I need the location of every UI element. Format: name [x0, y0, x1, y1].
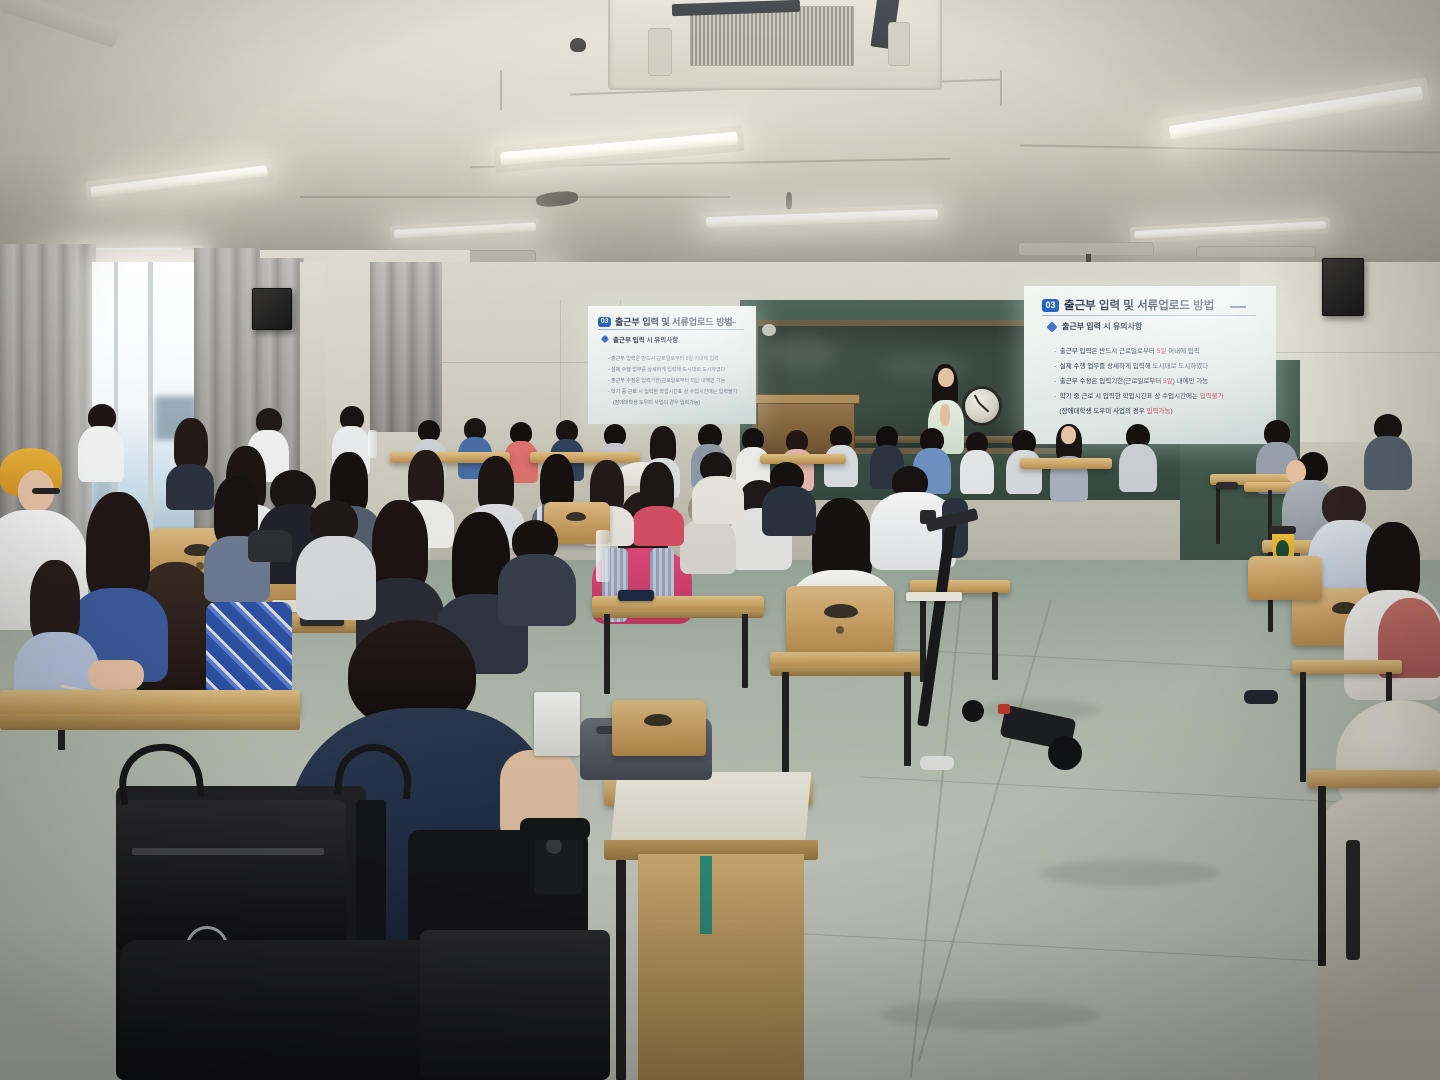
- desk-writing-surface: [611, 772, 811, 846]
- slide-badge: 03: [1042, 299, 1059, 312]
- scooter-accent: [998, 704, 1010, 714]
- slide-subtitle: 출근부 입력 시 유의사항: [1062, 321, 1142, 332]
- slide-sub-marker: [601, 335, 609, 343]
- desk-leg: [604, 614, 610, 694]
- chair-back: [1248, 556, 1322, 600]
- desk-leg: [1318, 786, 1326, 966]
- glasses: [32, 488, 60, 494]
- slide-bullet: - 출근부 입력은 반드시 근로일로부터 5일 이내에 입력: [1054, 344, 1224, 359]
- wall-speaker-left: [252, 288, 292, 330]
- hand: [88, 660, 144, 690]
- torso: [824, 445, 858, 487]
- slide-bullet: - 학기 중 근로 시 입력한 학업시간표 상 수업시간에는 입력불가: [1054, 389, 1224, 404]
- wheelchair-side-panel: [120, 940, 460, 1080]
- torso: [498, 554, 576, 626]
- shoe: [1244, 690, 1278, 704]
- bag-zipper: [132, 848, 324, 855]
- scooter-wheel: [962, 700, 984, 722]
- desk-leg: [1300, 672, 1306, 782]
- lecture-hall-photo: 03 출근부 입력 및 서류업로드 방법 출근부 입력 시 유의사항 - 출근부…: [0, 0, 1440, 1080]
- torso: [692, 476, 744, 524]
- slide-bullet: - 실제 수행 업무를 상세하게 입력해 도시대로 도시하였다: [608, 365, 737, 376]
- phone: [1216, 482, 1238, 489]
- slide-title-rule: [598, 329, 744, 330]
- slide-bullets: - 출근부 입력은 반드시 근로일로부터 5일 이내에 입력 - 실제 수행 업…: [608, 354, 737, 409]
- curtain-back: [370, 262, 442, 432]
- slide-badge: 03: [598, 317, 611, 327]
- slide-bullet: (장애대학생 도우미 사업의 경우 입력가능): [1054, 404, 1224, 419]
- chair-knot: [836, 626, 844, 634]
- chair-back: [786, 586, 894, 662]
- slide-subtitle: 출근부 입력 시 유의사항: [613, 334, 678, 344]
- shoe: [920, 756, 954, 770]
- torso: [680, 518, 736, 574]
- water-bottle: [368, 430, 377, 458]
- chair-cutout: [644, 714, 672, 726]
- slide-title: 출근부 입력 및 서류업로드 방법: [1064, 297, 1214, 313]
- notebook: [906, 592, 962, 601]
- desk-leg: [782, 672, 789, 772]
- tumbler-lid: [1270, 526, 1296, 534]
- slide-bullets: - 출근부 입력은 반드시 근로일로부터 5일 이내에 입력 - 실제 수행 업…: [1054, 344, 1224, 419]
- desk: [760, 454, 846, 464]
- slide-main: 03 출근부 입력 및 서류업로드 방법 출근부 입력 시 유의사항 - 출근부…: [1024, 286, 1276, 444]
- slide-bullet: - 출근부 수정은 입력기한(근로일로부터 5일) 내에만 가능: [608, 376, 737, 387]
- slide-title: 출근부 입력 및 서류업로드 방법: [615, 315, 733, 328]
- desk-leg: [992, 592, 998, 680]
- wall-speaker-right: [1322, 258, 1364, 316]
- torso: [960, 450, 994, 494]
- projection-screen-left: 03 출근부 입력 및 서류업로드 방법 출근부 입력 시 유의사항 - 출근부…: [588, 306, 756, 424]
- handbag: [248, 530, 292, 562]
- torso: [166, 464, 214, 510]
- torso: [1318, 796, 1440, 1080]
- slide-bullet: - 출근부 입력은 반드시 근로일로부터 5일 이내에 입력: [608, 354, 737, 365]
- wheelchair-armrest: [520, 818, 590, 840]
- torso: [1006, 450, 1042, 494]
- slide-bullet: - 출근부 수정은 입력기한(근로일로부터 5일) 내에만 가능: [1054, 374, 1224, 389]
- tape-marker: [700, 856, 712, 934]
- torso: [1364, 436, 1412, 490]
- slide-left: 03 출근부 입력 및 서류업로드 방법 출근부 입력 시 유의사항 - 출근부…: [588, 306, 756, 424]
- chair-cutout: [566, 512, 586, 521]
- desk: [1020, 458, 1112, 469]
- phone: [618, 590, 654, 601]
- slide-title-dash: [724, 322, 736, 323]
- presenter-head: [938, 368, 954, 387]
- water-bottle: [596, 530, 610, 582]
- slide-bullet: - 실제 수행 업무를 상세하게 입력해 도시대로 도시하였다: [1054, 359, 1224, 374]
- slide-bullet: - 학기 중 근로 시 입력한 학업시간표 상 수업시간에는 입력불가: [608, 387, 737, 398]
- hair: [86, 492, 150, 602]
- torso: [1119, 444, 1157, 492]
- wheelchair-lower-bag: [420, 930, 610, 1080]
- presenter-arm: [940, 404, 950, 426]
- projection-screen-main: 03 출근부 입력 및 서류업로드 방법 출근부 입력 시 유의사항 - 출근부…: [1024, 286, 1276, 444]
- desk-leg: [616, 860, 626, 1080]
- floor-scuff: [880, 1000, 1100, 1030]
- desk-foreground-left: [0, 690, 300, 716]
- scooter-wheel: [1048, 736, 1082, 770]
- wheelchair-bag: [116, 800, 346, 950]
- head: [1061, 426, 1076, 444]
- board-light: [762, 324, 776, 336]
- window-mullion: [148, 262, 153, 562]
- desk-edge: [770, 666, 926, 676]
- torso: [632, 506, 684, 546]
- desk-leg: [1216, 484, 1220, 544]
- hair: [174, 418, 208, 470]
- chair-cutout: [824, 604, 858, 618]
- desk-edge: [0, 714, 300, 730]
- slide-title-dash: [1230, 306, 1246, 308]
- slide-title-rule: [1042, 315, 1256, 316]
- desk-leg: [742, 614, 748, 688]
- phone-white: [534, 692, 580, 756]
- chair-back: [612, 700, 706, 756]
- scooter-handlebar-grip: [920, 510, 936, 524]
- slide-sub-marker: [1046, 321, 1057, 332]
- torso: [762, 486, 816, 536]
- floor-scuff: [1040, 860, 1220, 886]
- bag-strap: [1346, 840, 1360, 960]
- desk-leg: [904, 672, 911, 766]
- podium-top: [752, 394, 860, 404]
- slide-bullet: (장애대학생 도우미 사업의 경우 입력가능): [608, 398, 737, 409]
- torso: [296, 536, 376, 620]
- torso: [78, 426, 124, 482]
- chalk-smudge: [768, 336, 838, 370]
- desk: [1308, 770, 1440, 788]
- joystick-knob: [546, 838, 562, 854]
- desk-panel: [638, 854, 804, 1080]
- desk-edge: [592, 610, 764, 618]
- wall-tile-line: [560, 300, 561, 420]
